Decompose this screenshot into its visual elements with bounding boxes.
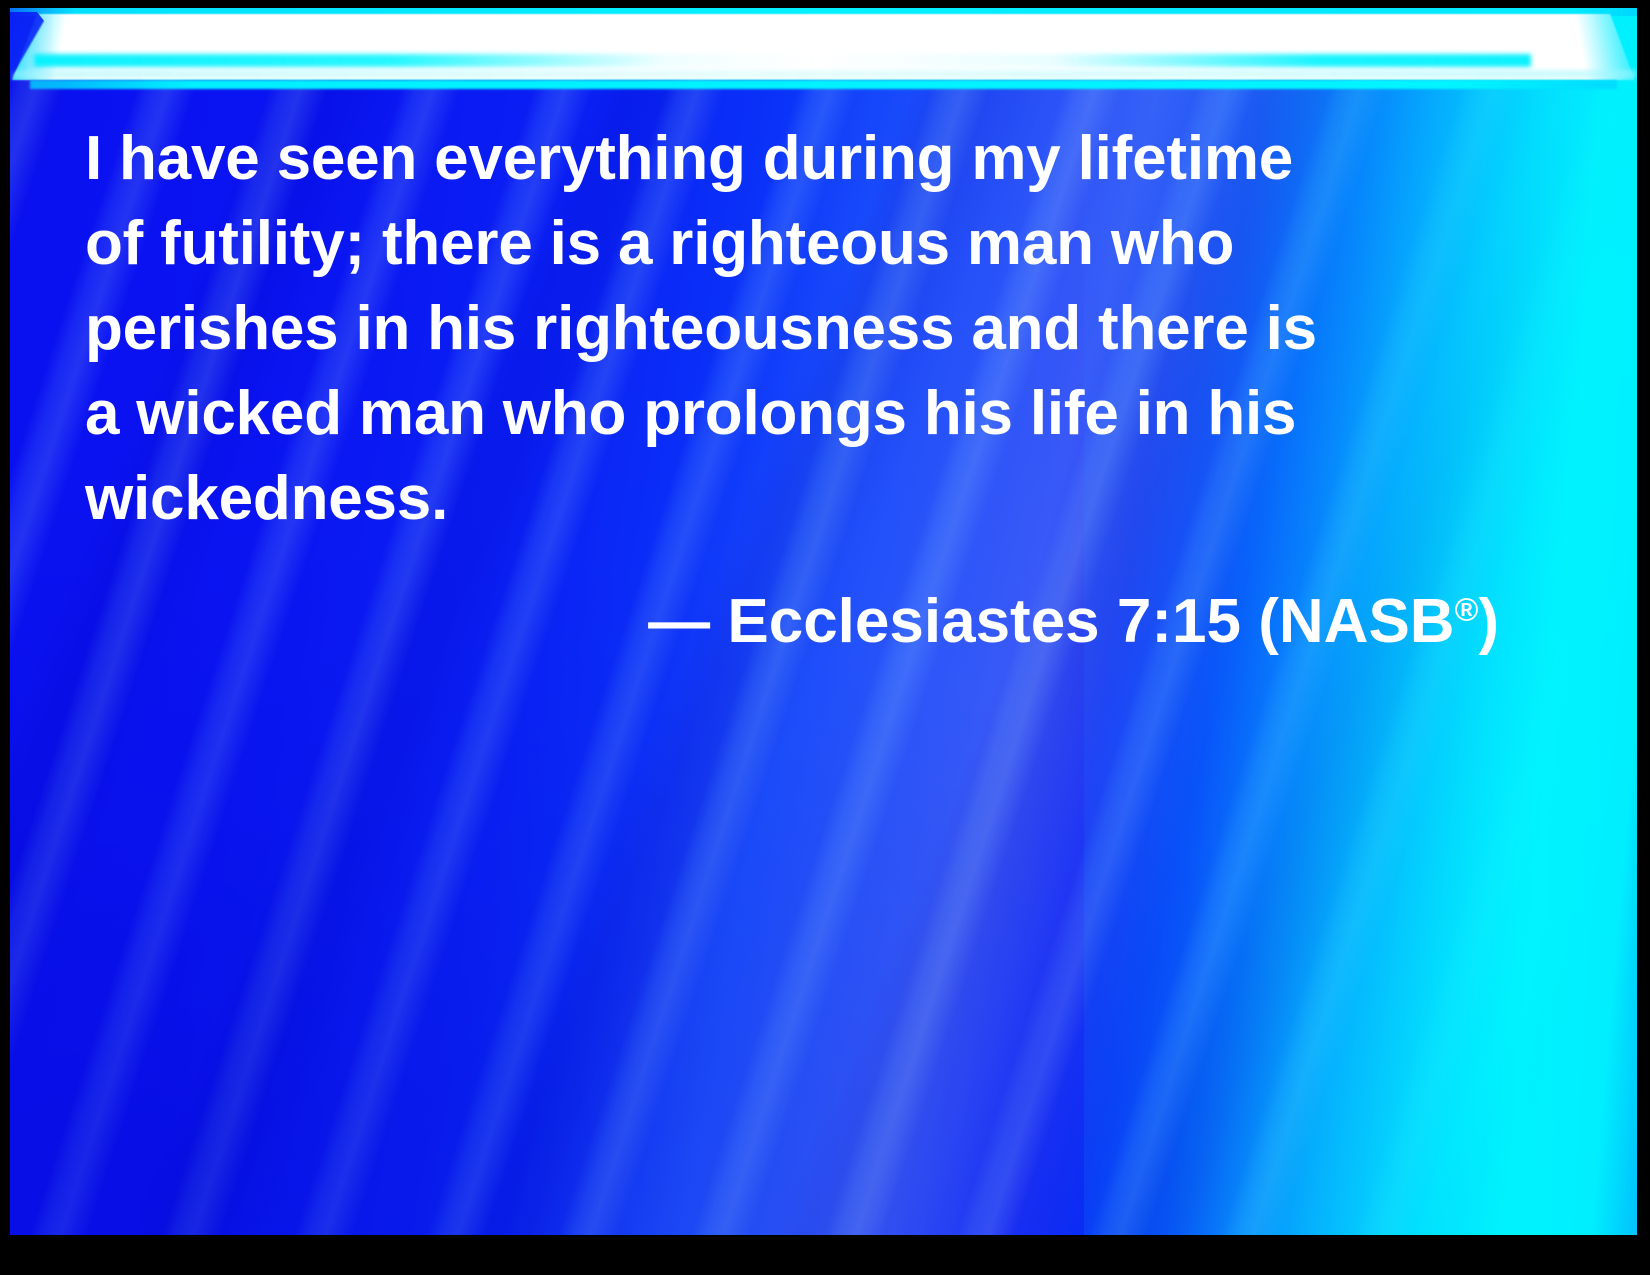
citation-book: Ecclesiastes — [727, 587, 1099, 656]
verse-line-5: wickedness. — [85, 456, 1505, 541]
verse-line-2: of futility; there is a righteous man wh… — [85, 201, 1505, 286]
citation-reference: 7:15 — [1117, 587, 1241, 656]
citation-translation: NASB — [1279, 587, 1455, 656]
verse-line-4: a wicked man who prolongs his life in hi… — [85, 371, 1505, 456]
verse-text-block: I have seen everything during my lifetim… — [85, 116, 1505, 657]
verse-citation: — Ecclesiastes 7:15 (NASB®) — [85, 587, 1505, 657]
citation-close-paren: ) — [1478, 587, 1499, 656]
citation-open-paren: ( — [1258, 587, 1279, 656]
verse-line-1: I have seen everything during my lifetim… — [85, 116, 1505, 201]
citation-em-dash: — — [648, 587, 710, 656]
verse-line-3: perishes in his righteousness and there … — [85, 286, 1505, 371]
verse-slide: I have seen everything during my lifetim… — [0, 0, 1650, 1275]
slide-stage: I have seen everything during my lifetim… — [10, 8, 1637, 1235]
registered-trademark-icon: ® — [1455, 591, 1479, 627]
